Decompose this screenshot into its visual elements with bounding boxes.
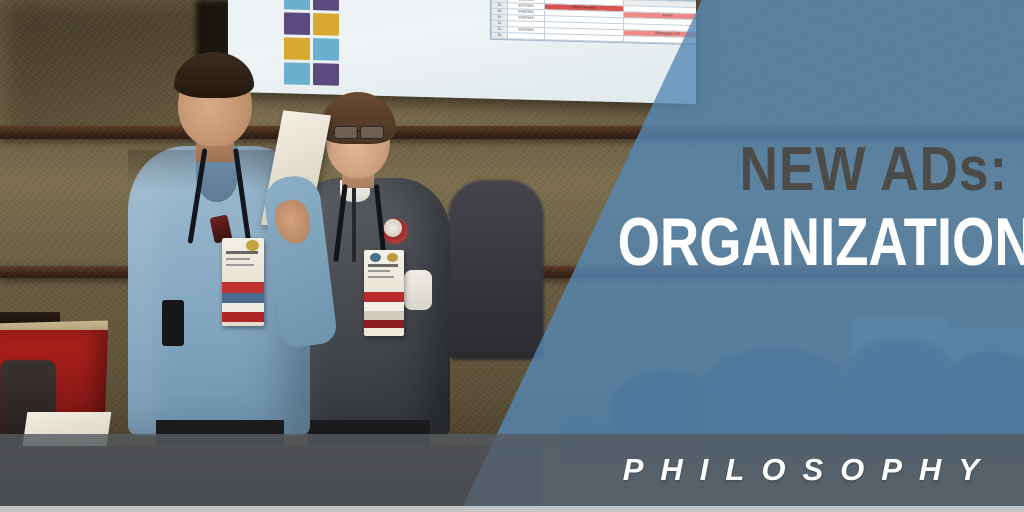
woman-sleeve-cuff [404, 270, 432, 310]
spreadsheet-date-cell [508, 33, 545, 40]
footer-banner: PHILOSOPHY [0, 434, 1024, 506]
title-line-2: ORGANIZATION [618, 204, 1008, 280]
slide-color-swatch [284, 62, 310, 85]
woman-eyeglasses-bridge [356, 130, 361, 132]
slide-color-swatch [313, 63, 339, 86]
woman-eyeglasses-left-lens [334, 126, 358, 139]
spreadsheet-cell [545, 34, 624, 42]
footer-bottom-strip [0, 506, 1024, 512]
woman-polo-placket [352, 182, 356, 262]
spreadsheet-row-number: 64 [492, 32, 508, 38]
slide-color-swatch [284, 37, 310, 60]
woman-conference-badge [364, 250, 404, 336]
projector-screen: 589/16/2018599/17/2018Board Meeting609/1… [228, 0, 696, 104]
slide-image: 589/16/2018599/17/2018Board Meeting609/1… [0, 0, 1024, 512]
man-belt-radio [162, 300, 184, 346]
slide-color-swatch [284, 0, 310, 10]
spreadsheet-table: 589/16/2018599/17/2018Board Meeting609/1… [491, 0, 696, 47]
title-block: NEW ADs: ORGANIZATION [520, 138, 1008, 280]
footer-banner-inner: PHILOSOPHY [0, 434, 1024, 506]
woman-polo-logo [382, 218, 408, 244]
footer-banner-label: PHILOSOPHY [605, 452, 996, 488]
slide-color-swatch [284, 12, 310, 35]
slide-color-swatch [313, 0, 339, 11]
man-conference-badge [222, 238, 264, 326]
slide-color-swatch [313, 38, 339, 61]
title-line-1: NEW ADs: [588, 138, 1008, 202]
slide-spreadsheet: 589/16/2018599/17/2018Board Meeting609/1… [490, 0, 696, 48]
slide-color-swatch [313, 13, 339, 36]
woman-eyeglasses-right-lens [360, 126, 384, 139]
slide-color-swatch-grid [284, 0, 339, 86]
